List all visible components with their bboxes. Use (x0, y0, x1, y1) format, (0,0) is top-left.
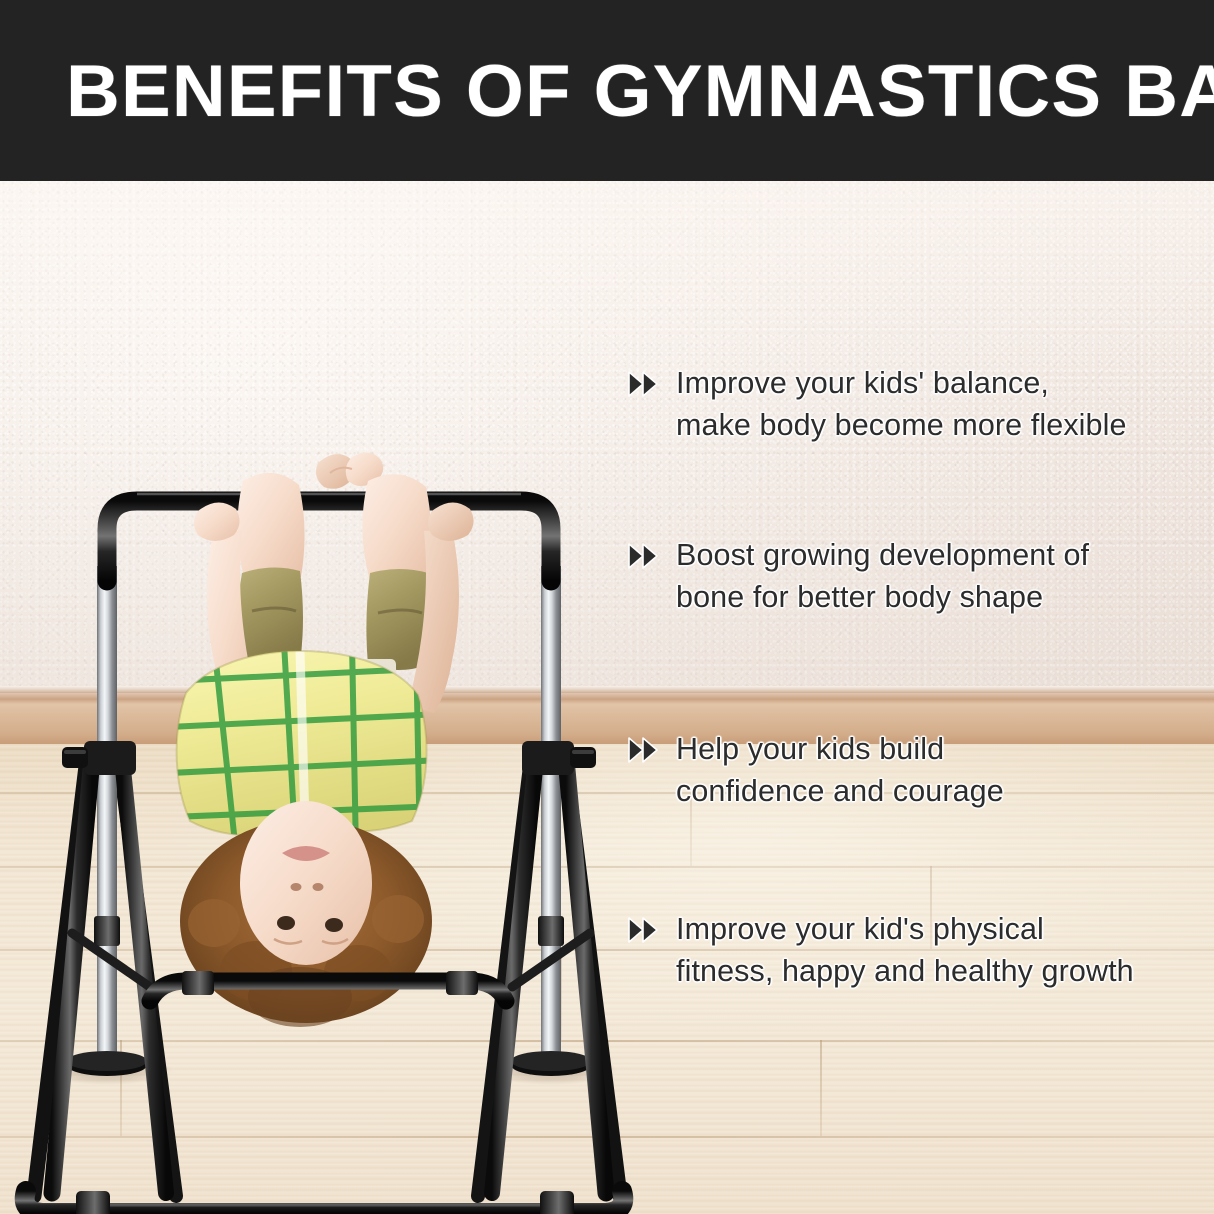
list-item: Boost growing development of bone for be… (626, 534, 1214, 618)
child-eye-left (277, 916, 295, 930)
list-item-label: Improve your kids' balance, make body be… (676, 362, 1127, 446)
child-left-thigh (237, 473, 304, 581)
top-bar-assembly (107, 494, 551, 581)
child-right-thigh (362, 474, 431, 581)
double-chevron-right-icon (626, 369, 662, 399)
support-collar-left (182, 971, 214, 995)
list-item-label: Boost growing development of bone for be… (676, 534, 1089, 618)
child-face (240, 801, 372, 965)
list-item-label: Help your kids build confidence and cour… (676, 728, 1004, 812)
double-chevron-right-icon (626, 541, 662, 571)
child-figure (160, 452, 474, 1027)
list-item: Improve your kid's physical fitness, hap… (626, 908, 1214, 992)
list-item: Improve your kids' balance, make body be… (626, 362, 1214, 446)
chrome-post-right (541, 566, 561, 1063)
double-chevron-right-icon (626, 915, 662, 945)
benefits-list: Improve your kids' balance, make body be… (626, 181, 1214, 1214)
support-collar-right (446, 971, 478, 995)
infographic-page: BENEFITS OF GYMNASTICS BAR (0, 0, 1214, 1214)
child-eye-right (325, 918, 343, 932)
gymnastics-bar-product (0, 181, 660, 1214)
list-item: Help your kids build confidence and cour… (626, 728, 1214, 812)
chrome-post-left (97, 566, 117, 1063)
double-chevron-right-icon (626, 735, 662, 765)
frame-collar-left (76, 1191, 110, 1214)
child-nose-right (313, 883, 324, 891)
page-title: BENEFITS OF GYMNASTICS BAR (66, 52, 1214, 132)
child-nose-left (291, 883, 302, 891)
post-collar-left (94, 916, 120, 946)
frame-collar-right (540, 1191, 574, 1214)
list-item-label: Improve your kid's physical fitness, hap… (676, 908, 1134, 992)
post-collar-right (538, 916, 564, 946)
header-banner: BENEFITS OF GYMNASTICS BAR (0, 0, 1214, 181)
